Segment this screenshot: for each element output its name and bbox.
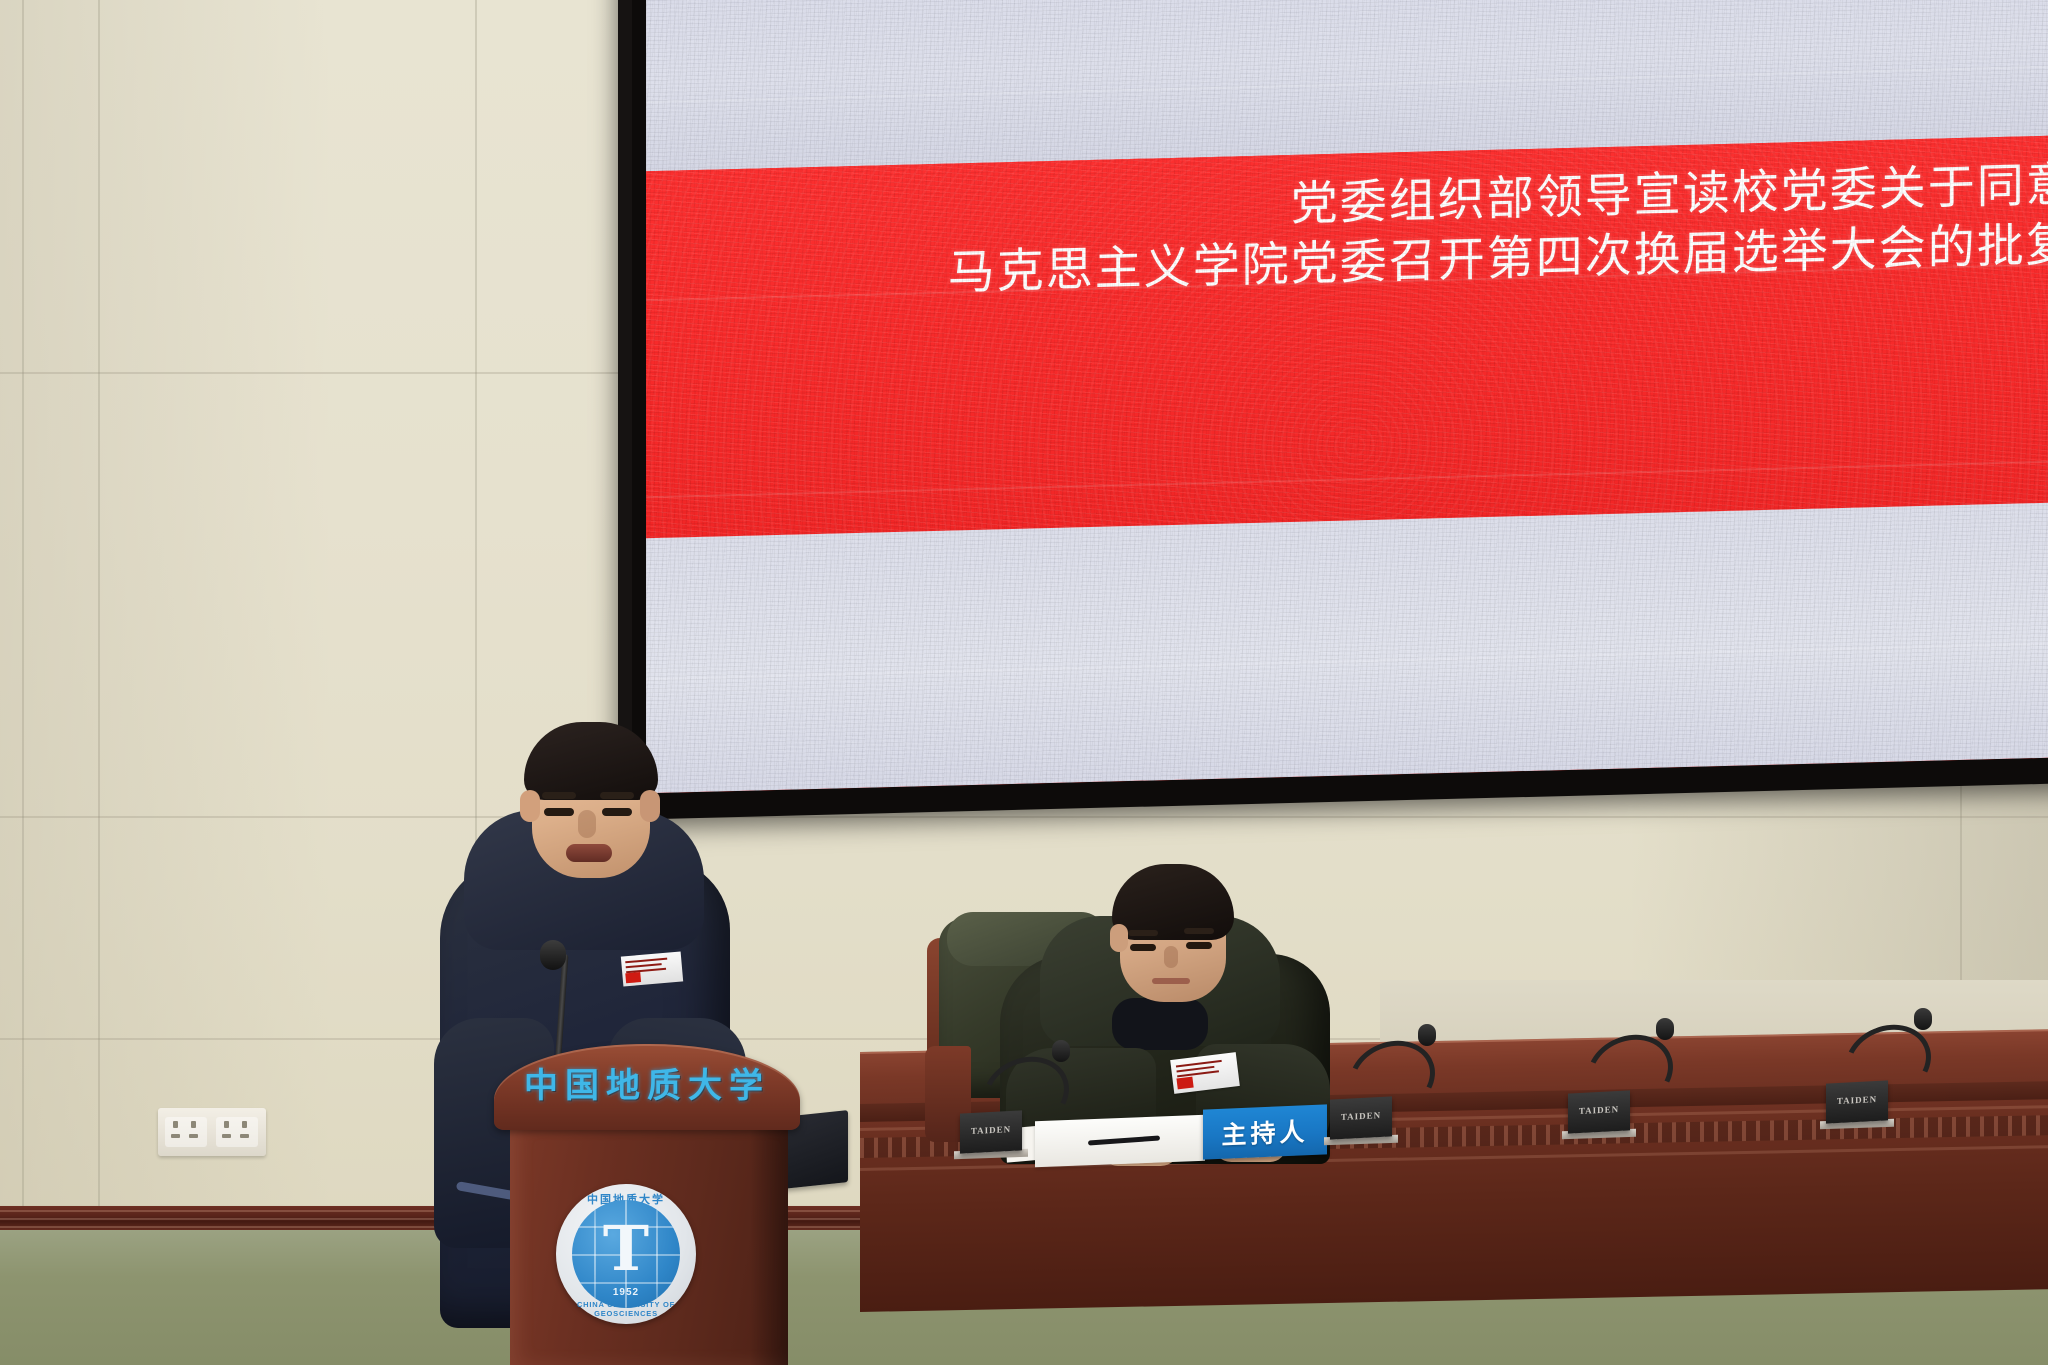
speaker-party-badge bbox=[621, 951, 683, 986]
conference-hall-photo: 马克思主义学院 SCHOOL OF MARXISM 党委组织部领导宣读校党委关于… bbox=[0, 0, 2048, 1365]
party-flag-icon bbox=[625, 972, 641, 983]
outlet-socket bbox=[216, 1117, 258, 1147]
speaker-ear bbox=[640, 790, 660, 822]
moderator-eye bbox=[1130, 944, 1156, 951]
party-flag-icon bbox=[1176, 1077, 1193, 1090]
moderator-nose bbox=[1164, 946, 1178, 968]
wall-shadow-left bbox=[0, 0, 330, 1250]
moderator-hair bbox=[1112, 864, 1234, 940]
moderator-eyebrow bbox=[1128, 930, 1158, 936]
podium-microphone-head[interactable] bbox=[540, 940, 566, 970]
speaker-ear bbox=[520, 790, 540, 822]
wall-seam bbox=[98, 0, 100, 1250]
speaker-nose bbox=[578, 810, 596, 838]
speaker-eyebrow bbox=[542, 792, 576, 799]
wall-seam bbox=[22, 0, 24, 1250]
speaker-hair bbox=[524, 722, 658, 800]
emblem-hammer-glyph: T bbox=[603, 1218, 649, 1280]
moderator-eye bbox=[1186, 942, 1212, 949]
moderator-eyebrow bbox=[1184, 928, 1214, 934]
emblem-globe: T 1952 bbox=[572, 1200, 680, 1308]
emblem-year: 1952 bbox=[572, 1287, 680, 1298]
led-projection-screen: 马克思主义学院 SCHOOL OF MARXISM 党委组织部领导宣读校党委关于… bbox=[618, 0, 2048, 820]
podium-university-name: 中国地质大学 bbox=[494, 1058, 800, 1107]
speaker-eyebrow bbox=[600, 792, 634, 799]
university-emblem: 中国地质大学 CHINA UNIVERSITY OF GEOSCIENCES T… bbox=[556, 1184, 696, 1324]
moderator-mouth bbox=[1152, 978, 1190, 984]
wall-outlet[interactable] bbox=[158, 1108, 266, 1156]
wall-seam bbox=[0, 816, 2048, 818]
moderator-ear bbox=[1110, 924, 1128, 952]
speaking-podium: 中国地质大学 中国地质大学 CHINA UNIVERSITY OF GEOSCI… bbox=[468, 1032, 828, 1365]
outlet-socket bbox=[165, 1117, 207, 1147]
speaker-eye bbox=[544, 808, 574, 816]
speaker-mouth bbox=[566, 844, 612, 862]
speaker-eye bbox=[602, 808, 632, 816]
screen-display-area: 马克思主义学院 SCHOOL OF MARXISM 党委组织部领导宣读校党委关于… bbox=[646, 0, 2048, 793]
moderator-collar bbox=[1112, 998, 1208, 1050]
name-plate-text: 主持人 bbox=[1221, 1112, 1308, 1152]
moderator-name-plate: 主持人 bbox=[1203, 1104, 1327, 1159]
